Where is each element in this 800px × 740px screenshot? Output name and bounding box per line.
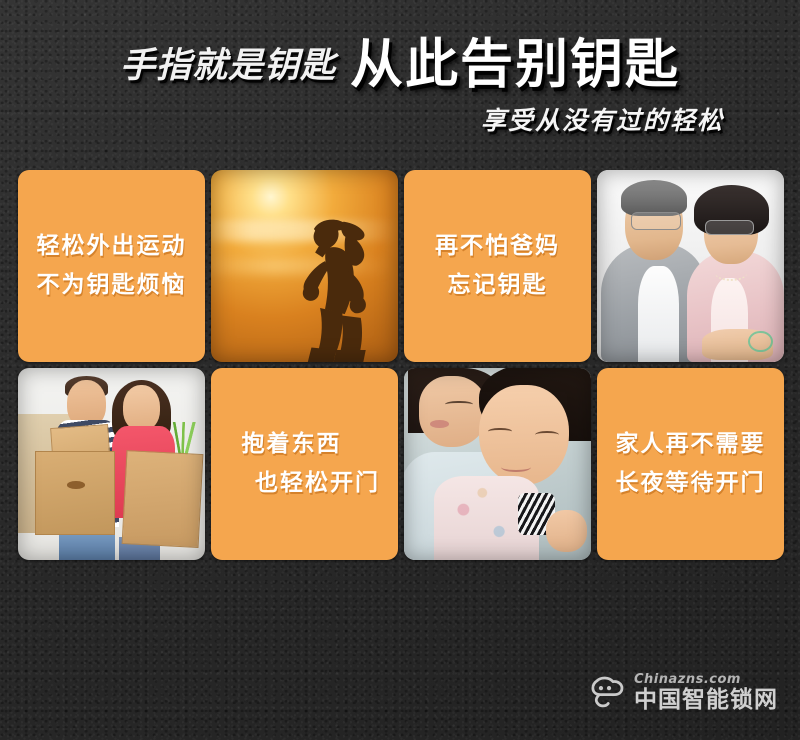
tile-line: 也轻松开门	[255, 472, 380, 495]
box-handle	[67, 481, 84, 488]
man-hair	[621, 180, 686, 216]
tile-line: 轻松外出运动	[37, 235, 187, 258]
cell-carrying: 抱着东西 也轻松开门	[211, 368, 398, 560]
header: 手指就是钥匙 从此告别钥匙 享受从没有过的轻松	[0, 0, 800, 160]
headline-row: 手指就是钥匙 从此告别钥匙	[0, 38, 800, 91]
runner-silhouette-icon	[267, 178, 390, 362]
child-mouth	[501, 462, 531, 472]
cloud-lock-logo-icon	[584, 675, 626, 711]
headline-big: 从此告别钥匙	[350, 38, 680, 91]
subheadline: 享受从没有过的轻松	[481, 108, 724, 133]
headline-small: 手指就是钥匙	[120, 49, 336, 91]
glasses-icon	[705, 220, 754, 235]
tile-line: 再不怕爸妈	[435, 235, 560, 258]
cell-runner	[211, 170, 398, 362]
woman-face	[123, 385, 160, 431]
tile-line: 长夜等待开门	[616, 472, 766, 495]
photo-elderly-couple	[597, 170, 784, 362]
tile-line: 忘记钥匙	[448, 274, 548, 297]
watermark: Chinazns.com 中国智能锁网	[584, 673, 778, 712]
mother-face	[419, 376, 488, 447]
tile-line: 不为钥匙烦恼	[37, 274, 187, 297]
tile-line: 抱着东西	[242, 433, 342, 456]
cell-elderly-couple	[597, 170, 784, 362]
child-hand	[546, 510, 587, 552]
photo-moving-boxes	[18, 368, 205, 560]
jade-bangle	[748, 331, 773, 352]
cell-parents: 再不怕爸妈 忘记钥匙	[404, 170, 591, 362]
cardboard-box	[35, 451, 116, 536]
watermark-domain: Chinazns.com	[634, 673, 778, 686]
photo-sleeping-mother-child	[404, 368, 591, 560]
feature-grid: 轻松外出运动 不为钥匙烦恼	[18, 170, 782, 560]
cell-sleeping	[404, 368, 591, 560]
glasses-icon	[631, 212, 682, 229]
poster-root: 手指就是钥匙 从此告别钥匙 享受从没有过的轻松 轻松外出运动 不为钥匙烦恼	[0, 0, 800, 740]
cell-sport: 轻松外出运动 不为钥匙烦恼	[18, 170, 205, 362]
tile-line: 家人再不需要	[616, 433, 766, 456]
watermark-text: Chinazns.com 中国智能锁网	[634, 673, 778, 712]
mother-lips	[430, 420, 449, 428]
watermark-brand: 中国智能锁网	[634, 689, 778, 712]
man-shirt	[638, 266, 679, 362]
cell-family-wait: 家人再不需要 长夜等待开门	[597, 368, 784, 560]
cell-moving-boxes	[18, 368, 205, 560]
photo-runner-sunset	[211, 170, 398, 362]
cardboard-box	[122, 451, 204, 549]
